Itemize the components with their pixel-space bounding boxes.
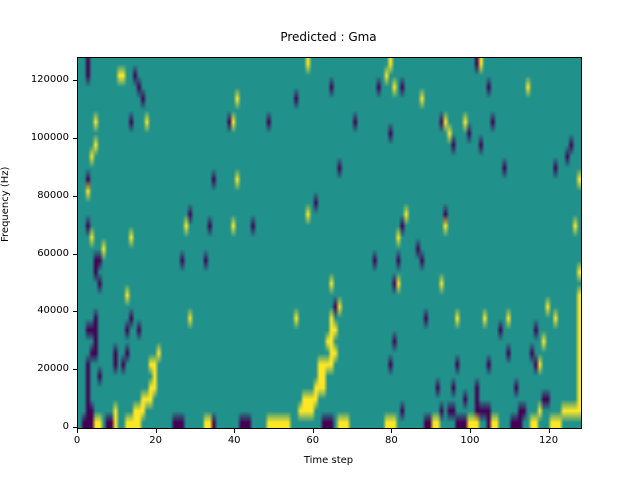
y-tick-label: 60000 xyxy=(7,249,69,259)
x-tick-mark xyxy=(549,429,550,433)
y-tick-mark xyxy=(73,196,77,197)
page-title: Predicted : Gma xyxy=(77,30,580,44)
x-tick-label: 100 xyxy=(440,436,500,446)
y-tick-label: 40000 xyxy=(7,306,69,316)
y-axis-label: Frequency (Hz) xyxy=(0,167,11,242)
y-tick-mark xyxy=(73,254,77,255)
y-tick-mark xyxy=(73,138,77,139)
x-tick-mark xyxy=(313,429,314,433)
x-tick-mark xyxy=(470,429,471,433)
y-tick-mark xyxy=(73,369,77,370)
matplotlib-figure: Predicted : Gma 020000400006000080000100… xyxy=(0,0,640,480)
heatmap-axes xyxy=(77,57,582,429)
x-tick-label: 20 xyxy=(126,436,186,446)
x-tick-label: 40 xyxy=(204,436,264,446)
y-tick-label: 100000 xyxy=(7,133,69,143)
x-tick-label: 120 xyxy=(519,436,579,446)
y-tick-mark xyxy=(73,80,77,81)
y-tick-label: 120000 xyxy=(7,75,69,85)
y-tick-mark xyxy=(73,427,77,428)
x-tick-mark xyxy=(156,429,157,433)
x-tick-mark xyxy=(77,429,78,433)
x-tick-label: 60 xyxy=(283,436,343,446)
y-tick-mark xyxy=(73,311,77,312)
x-tick-mark xyxy=(234,429,235,433)
y-tick-label: 20000 xyxy=(7,364,69,374)
y-tick-label: 80000 xyxy=(7,191,69,201)
x-tick-label: 0 xyxy=(47,436,107,446)
x-tick-label: 80 xyxy=(361,436,421,446)
y-tick-label: 0 xyxy=(7,422,69,432)
heatmap-image xyxy=(78,58,581,428)
x-tick-mark xyxy=(391,429,392,433)
x-axis-label: Time step xyxy=(77,455,580,466)
